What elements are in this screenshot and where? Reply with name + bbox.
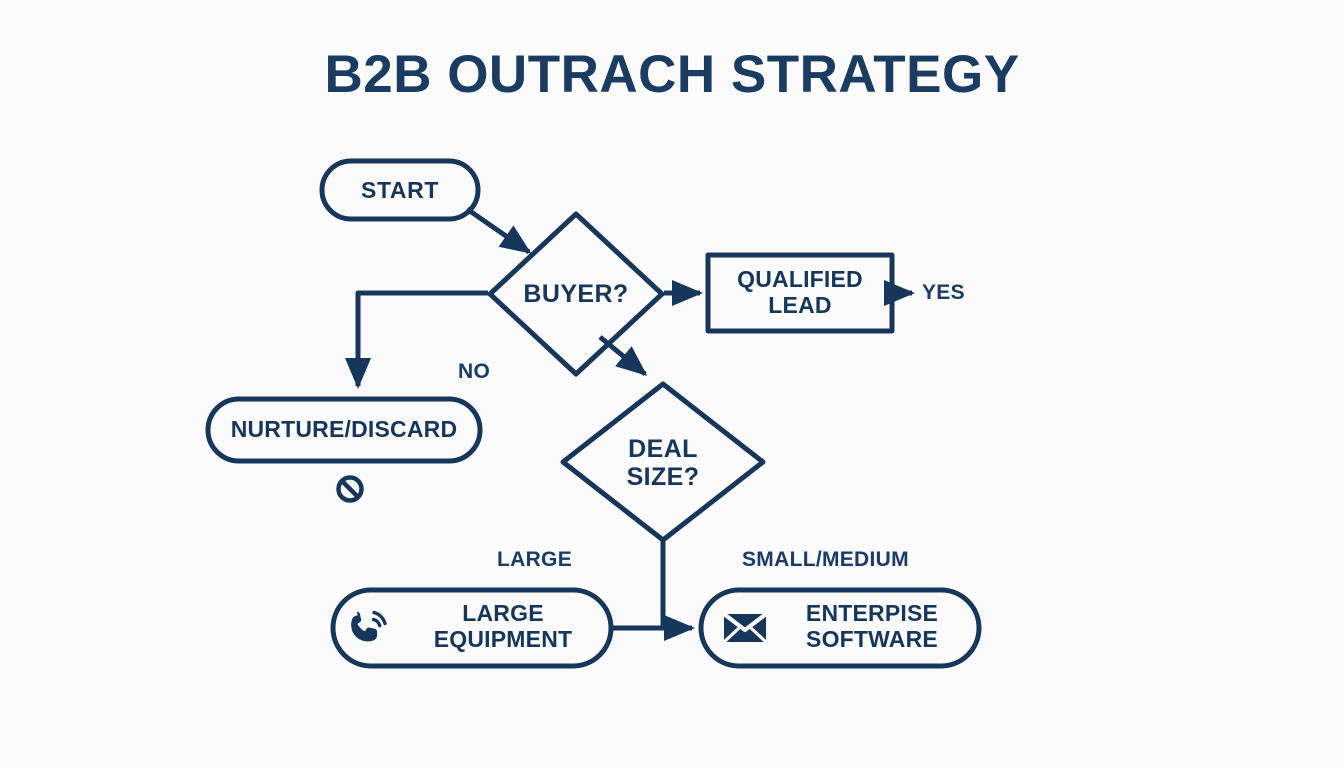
- edge-label-large: LARGE: [497, 548, 572, 572]
- envelope-icon: [724, 614, 766, 642]
- phone-icon: [351, 612, 385, 642]
- node-buyer-shape[interactable]: [490, 214, 662, 374]
- edge-buyer-to-deal-size: [600, 337, 645, 374]
- node-deal-size-shape[interactable]: [563, 384, 763, 540]
- edge-start-to-buyer: [467, 209, 529, 252]
- edge-label-small-medium: SMALL/MEDIUM: [742, 548, 909, 572]
- flowchart-canvas: B2B OUTRACH STRATEGY: [0, 0, 1344, 768]
- edge-label-yes: YES: [922, 281, 965, 305]
- no-entry-icon: [339, 478, 362, 501]
- node-start-shape[interactable]: [322, 161, 478, 219]
- node-qualified-lead-shape[interactable]: [708, 255, 892, 331]
- edge-label-no: NO: [458, 360, 490, 384]
- flowchart-graphics: [0, 0, 1344, 768]
- node-nurture-discard-shape[interactable]: [208, 399, 480, 461]
- node-large-equipment-shape[interactable]: [333, 590, 611, 666]
